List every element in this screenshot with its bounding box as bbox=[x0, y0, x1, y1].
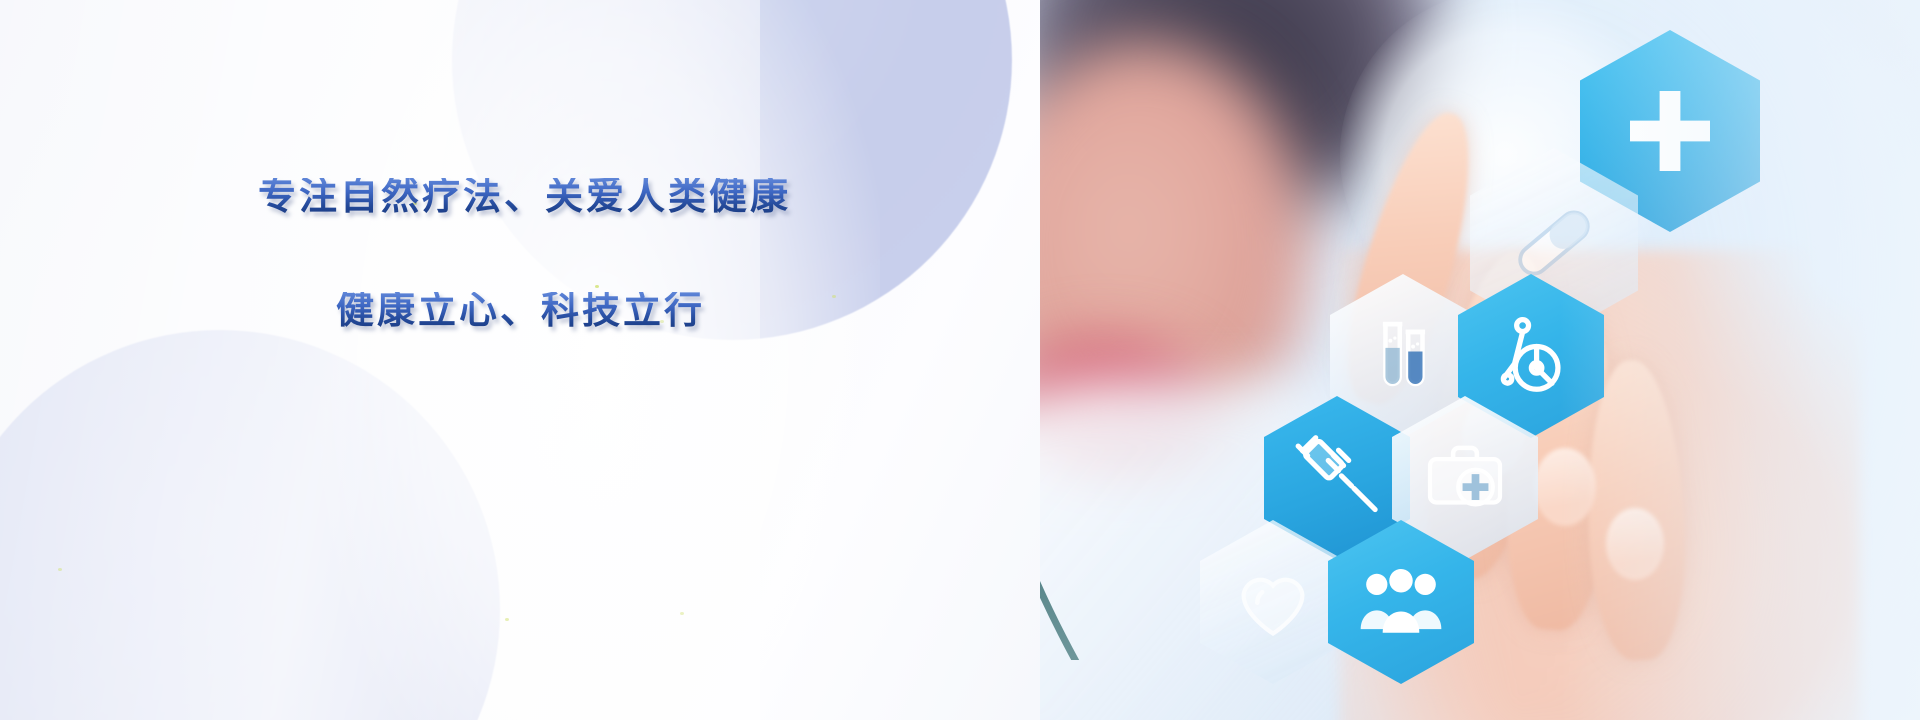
heart-icon bbox=[1231, 560, 1315, 644]
speck bbox=[505, 618, 509, 621]
first-aid-kit-icon bbox=[1423, 436, 1507, 520]
speck bbox=[680, 612, 684, 615]
center-white-wash bbox=[320, 0, 880, 720]
hero-banner: 专注自然疗法、关爱人类健康 健康立心、科技立行 bbox=[0, 0, 1920, 720]
medical-cross-icon bbox=[1622, 83, 1718, 179]
hero-photo bbox=[1040, 0, 1920, 720]
speck bbox=[58, 568, 62, 571]
hexagon-icon-cluster bbox=[1040, 0, 1920, 720]
syringe-icon bbox=[1293, 434, 1381, 522]
pill-capsule-icon bbox=[1508, 197, 1600, 289]
wheelchair-icon bbox=[1489, 314, 1573, 398]
headline-block: 专注自然疗法、关爱人类健康 健康立心、科技立行 bbox=[258, 178, 898, 330]
people-group-icon bbox=[1357, 558, 1445, 646]
headline-line-2: 健康立心、科技立行 bbox=[336, 292, 898, 330]
test-tubes-icon bbox=[1364, 317, 1442, 395]
headline-line-1: 专注自然疗法、关爱人类健康 bbox=[258, 178, 898, 216]
